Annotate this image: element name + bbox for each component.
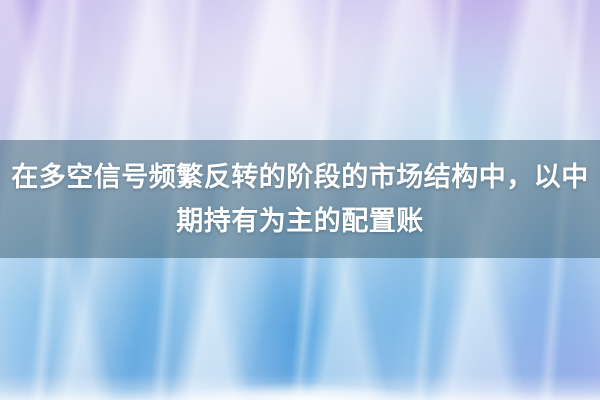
bottom-glow bbox=[0, 374, 600, 400]
headline-text: 在多空信号频繁反转的阶段的市场结构中，以中期持有为主的配置账 bbox=[0, 155, 600, 243]
headline-band: 在多空信号频繁反转的阶段的市场结构中，以中期持有为主的配置账 bbox=[0, 140, 600, 258]
banner-canvas: 在多空信号频繁反转的阶段的市场结构中，以中期持有为主的配置账 bbox=[0, 0, 600, 400]
